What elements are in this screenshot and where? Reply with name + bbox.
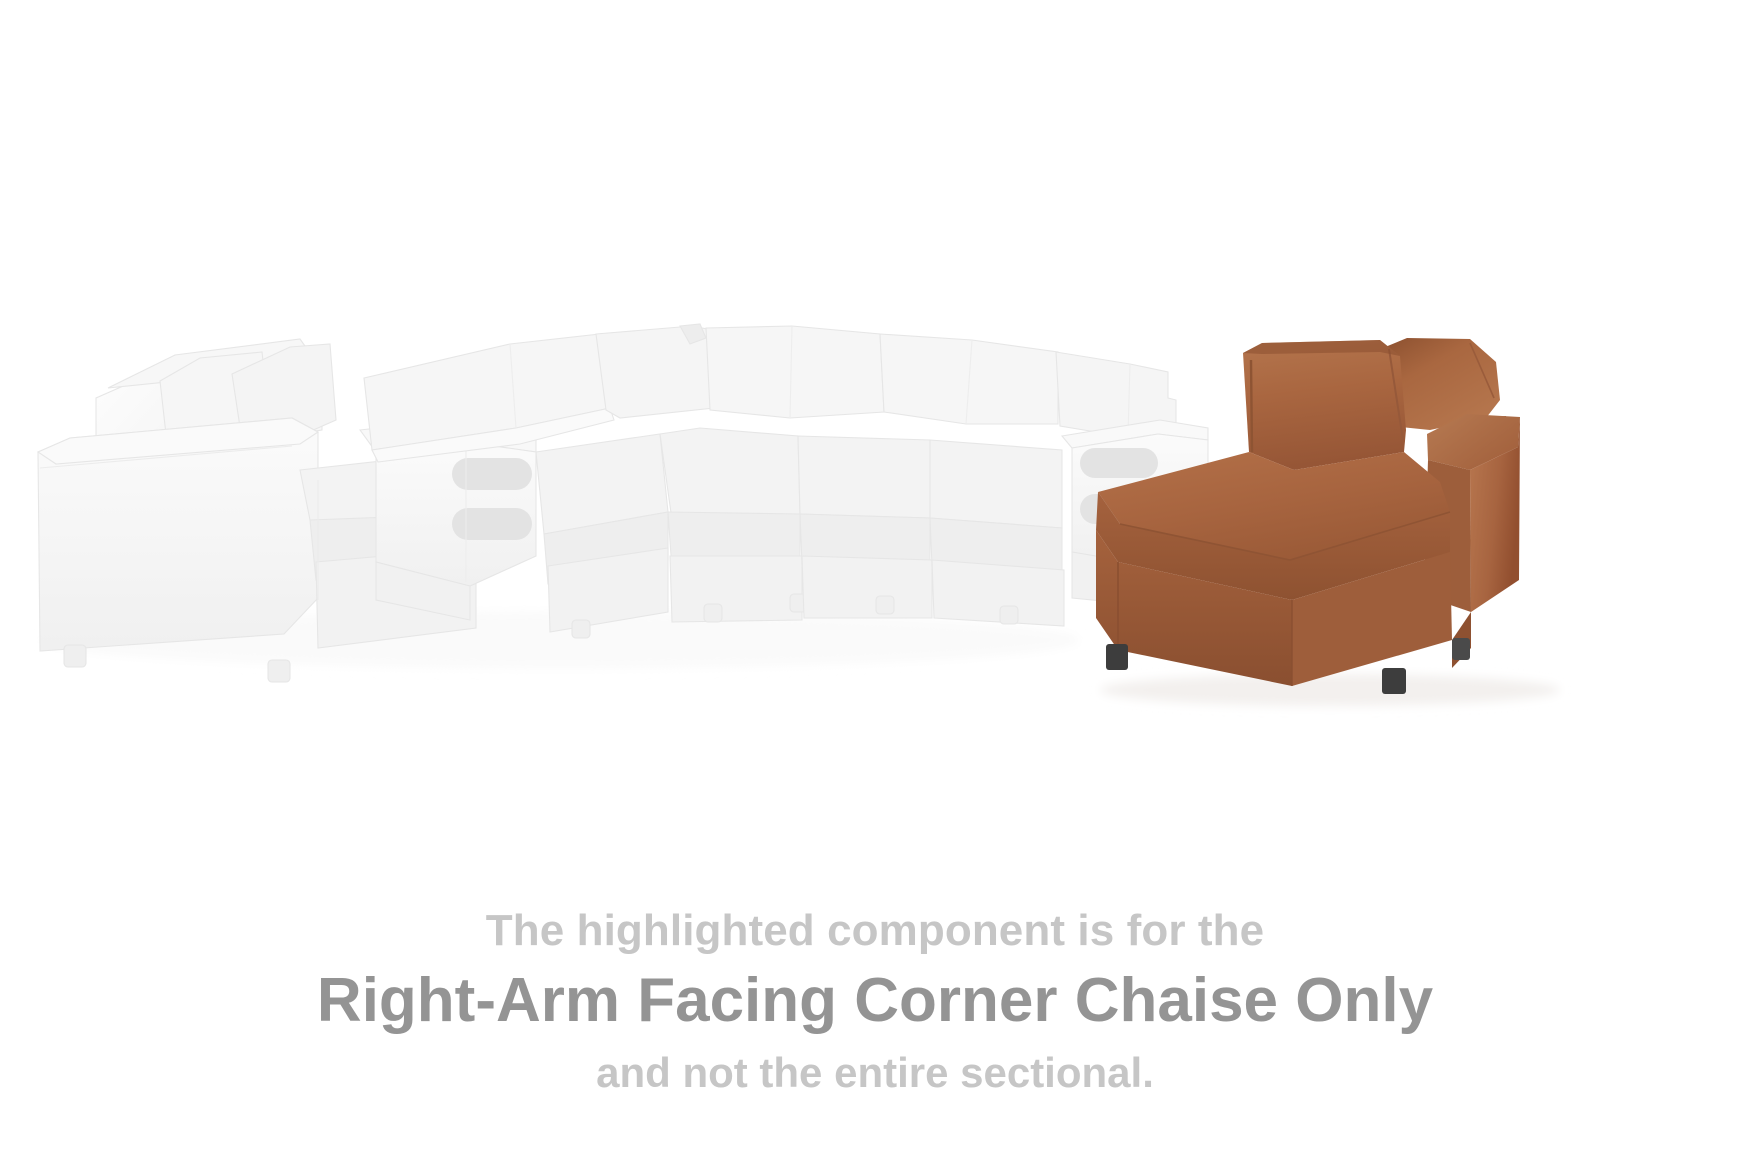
chaise-leg-front-right bbox=[1382, 668, 1406, 694]
console-slot-right-upper bbox=[1080, 448, 1158, 478]
ghosted-sectional-group bbox=[38, 324, 1208, 682]
chaise-leg-back-right bbox=[1452, 638, 1470, 660]
console-slot-lower bbox=[452, 508, 532, 540]
chaise-leg-front-left bbox=[1106, 644, 1128, 670]
sectional-sofa-illustration bbox=[0, 0, 1750, 820]
chaise-back-cushion bbox=[1243, 340, 1406, 470]
caption-line-bottom: and not the entire sectional. bbox=[0, 1048, 1750, 1098]
console-slot-upper bbox=[452, 458, 532, 490]
caption-block: The highlighted component is for the Rig… bbox=[0, 905, 1750, 1098]
caption-line-main: Right-Arm Facing Corner Chaise Only bbox=[0, 961, 1750, 1042]
caption-line-top: The highlighted component is for the bbox=[0, 905, 1750, 957]
product-figure bbox=[0, 0, 1750, 820]
